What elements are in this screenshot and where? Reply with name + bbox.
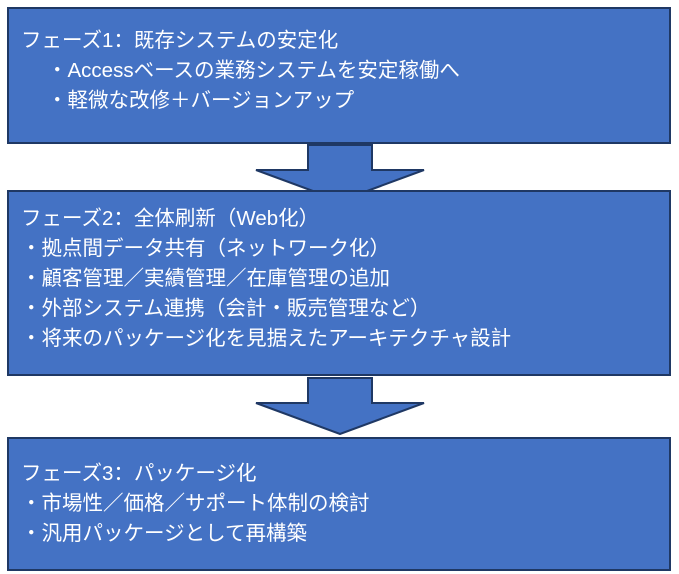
phase-box-3[interactable]: フェーズ3：パッケージ化 ・市場性／価格／サポート体制の検討 ・汎用パッケージと… — [7, 437, 671, 571]
phase-box-3-title: フェーズ3：パッケージ化 — [21, 459, 663, 489]
phase-box-2-bullet-4: ・将来のパッケージ化を見据えたアーキテクチャ設計 — [21, 324, 663, 354]
phase-box-3-bullet-1: ・市場性／価格／サポート体制の検討 — [21, 489, 663, 519]
phase-box-2-bullet-3: ・外部システム連携（会計・販売管理など） — [21, 294, 663, 324]
phase-box-2-bullet-1: ・拠点間データ共有（ネットワーク化） — [21, 234, 663, 264]
phase-box-2-content: フェーズ2：全体刷新（Web化） ・拠点間データ共有（ネットワーク化） ・顧客管… — [21, 204, 663, 354]
phase-box-3-content: フェーズ3：パッケージ化 ・市場性／価格／サポート体制の検討 ・汎用パッケージと… — [21, 459, 663, 549]
down-arrow-icon-2 — [255, 377, 425, 435]
phase-box-1[interactable]: フェーズ1：既存システムの安定化 ・Accessベースの業務システムを安定稼働へ… — [7, 7, 671, 144]
phase-box-2-title: フェーズ2：全体刷新（Web化） — [21, 204, 663, 234]
phase-box-1-title: フェーズ1：既存システムの安定化 — [21, 26, 663, 56]
phase-box-1-bullet-1: ・Accessベースの業務システムを安定稼働へ — [21, 56, 663, 86]
phase-box-1-bullet-2: ・軽微な改修＋バージョンアップ — [21, 86, 663, 116]
phase-box-1-content: フェーズ1：既存システムの安定化 ・Accessベースの業務システムを安定稼働へ… — [21, 26, 663, 116]
phase-box-2[interactable]: フェーズ2：全体刷新（Web化） ・拠点間データ共有（ネットワーク化） ・顧客管… — [7, 190, 671, 376]
phase-box-3-bullet-2: ・汎用パッケージとして再構築 — [21, 519, 663, 549]
phase-box-2-bullet-2: ・顧客管理／実績管理／在庫管理の追加 — [21, 264, 663, 294]
phase-roadmap-diagram: フェーズ1：既存システムの安定化 ・Accessベースの業務システムを安定稼働へ… — [0, 0, 679, 574]
